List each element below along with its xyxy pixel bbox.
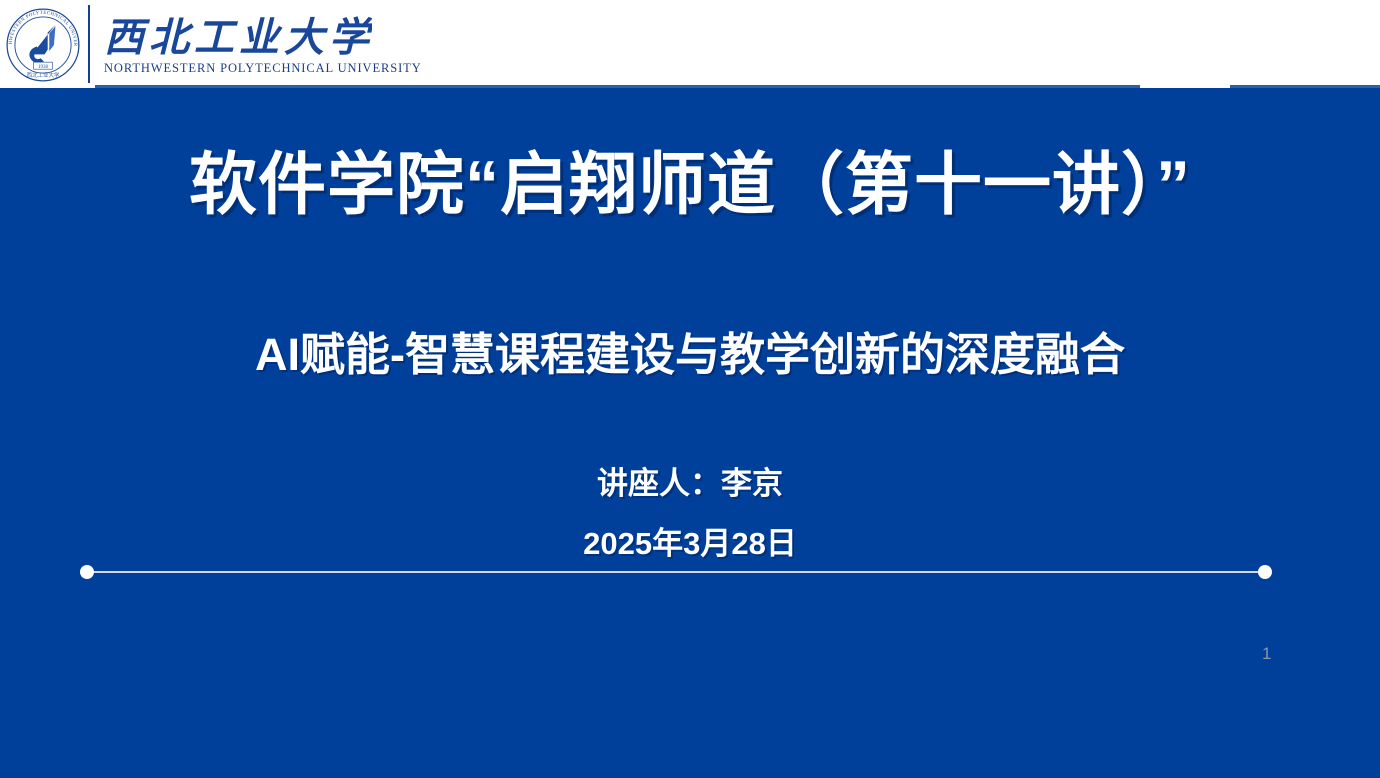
university-seal-icon: NORTHWESTERN POLYTECHNICAL UNIVERSITY 19… [4, 6, 82, 84]
svg-text:1938: 1938 [38, 65, 48, 70]
logo-text-group: 西北工业大学 NORTHWESTERN POLYTECHNICAL UNIVER… [104, 11, 422, 76]
header-hairline-right [1230, 85, 1380, 88]
logo-english-text: NORTHWESTERN POLYTECHNICAL UNIVERSITY [104, 62, 422, 76]
page-title: 软件学院“启翔师道（第十一讲）” [0, 146, 1380, 224]
decorative-dot-left [80, 565, 94, 579]
logo-chinese-wordmark: 西北工业大学 [104, 11, 372, 61]
talk-date: 2025年3月28日 [0, 518, 1380, 563]
decorative-dot-right [1258, 565, 1272, 579]
presentation-slide: NORTHWESTERN POLYTECHNICAL UNIVERSITY 19… [0, 0, 1380, 778]
page-subtitle: AI赋能-智慧课程建设与教学创新的深度融合 [0, 318, 1380, 383]
page-number: 1 [1262, 644, 1271, 664]
university-logo: NORTHWESTERN POLYTECHNICAL UNIVERSITY 19… [0, 0, 422, 88]
decorative-rule [80, 565, 1272, 579]
logo-chinese-text: 西北工业大学 [104, 15, 372, 61]
logo-divider [88, 5, 90, 83]
presenter-label: 讲座人：李京 [0, 458, 1380, 503]
decorative-rule-line [87, 571, 1265, 573]
